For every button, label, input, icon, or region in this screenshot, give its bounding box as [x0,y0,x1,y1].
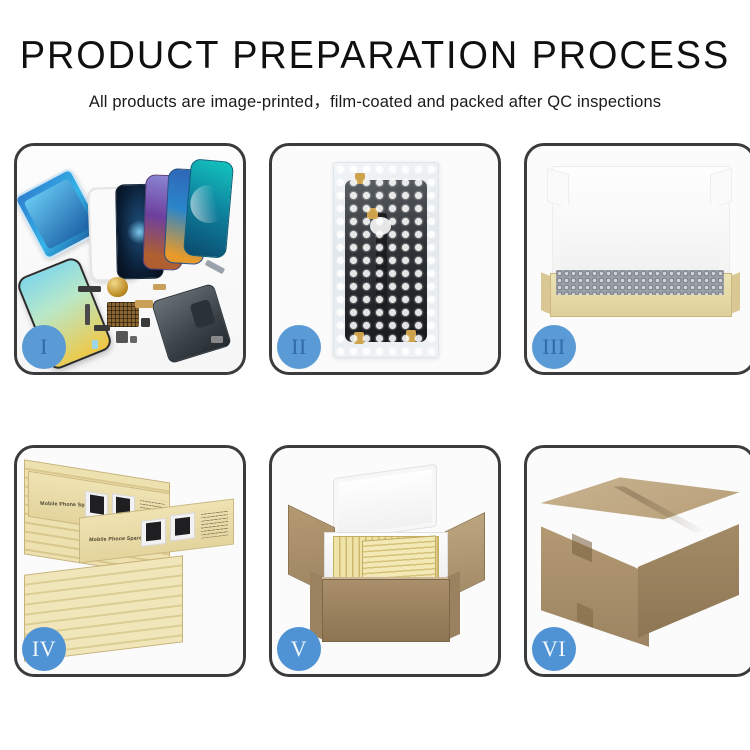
spare-part-graphic [78,286,101,292]
process-steps-grid: I II [14,143,736,677]
phone-backplate-graphic [151,283,232,364]
process-step-panel-1: I [14,143,246,375]
box-spec-text-lines [201,508,229,538]
page-header: PRODUCT PREPARATION PROCESS All products… [0,0,750,112]
page-title: PRODUCT PREPARATION PROCESS [11,36,739,75]
spare-part-graphic [135,300,153,308]
box-artwork-phone-icon [170,512,195,541]
process-step-panel-5: V [269,445,501,677]
white-foam-sheet-graphic [561,205,719,277]
teal-swirl-phone-graphic [182,158,233,258]
process-step-panel-3: III [524,143,750,375]
step-badge-1: I [22,325,66,369]
carton-front-panel-graphic [322,579,451,642]
process-step-panel-4: Mobile Phone Spare Parts Mobile Phone Sp… [14,445,246,677]
spare-part-graphic [141,318,150,327]
box-artwork-phone-icon [141,517,166,546]
page-subtitle: All products are image-printed，film-coat… [0,88,750,112]
step-badge-5: V [277,627,321,671]
process-step-panel-6: VI [524,445,750,677]
vibration-motor-graphic [107,277,127,297]
step-badge-4: IV [22,627,66,671]
spare-part-graphic [204,259,225,274]
styrofoam-lid-graphic [333,463,437,541]
bubble-padding-graphic [556,270,723,295]
box-flap-right-graphic [710,168,732,208]
step-badge-3: III [532,325,576,369]
process-step-panel-2: II [269,143,501,375]
spare-part-graphic [94,325,110,332]
step-badge-6: VI [532,627,576,671]
product-preparation-page: PRODUCT PREPARATION PROCESS All products… [0,0,750,750]
spare-part-graphic [153,284,167,290]
spare-part-graphic [85,304,91,324]
spare-part-graphic [116,331,127,342]
carton-right-face-graphic [638,511,740,638]
step-badge-2: II [277,325,321,369]
spare-part-graphic [130,336,137,343]
spare-part-graphic [211,336,222,343]
bubble-bag-graphic [333,162,439,358]
box-stack-graphic: Mobile Phone Spare Parts Mobile Phone Sp… [24,471,236,656]
spare-part-graphic [92,340,99,349]
carton-top-face-graphic [541,477,740,545]
box-flap-left-graphic [547,168,569,208]
bubble-texture-overlay [334,163,438,357]
